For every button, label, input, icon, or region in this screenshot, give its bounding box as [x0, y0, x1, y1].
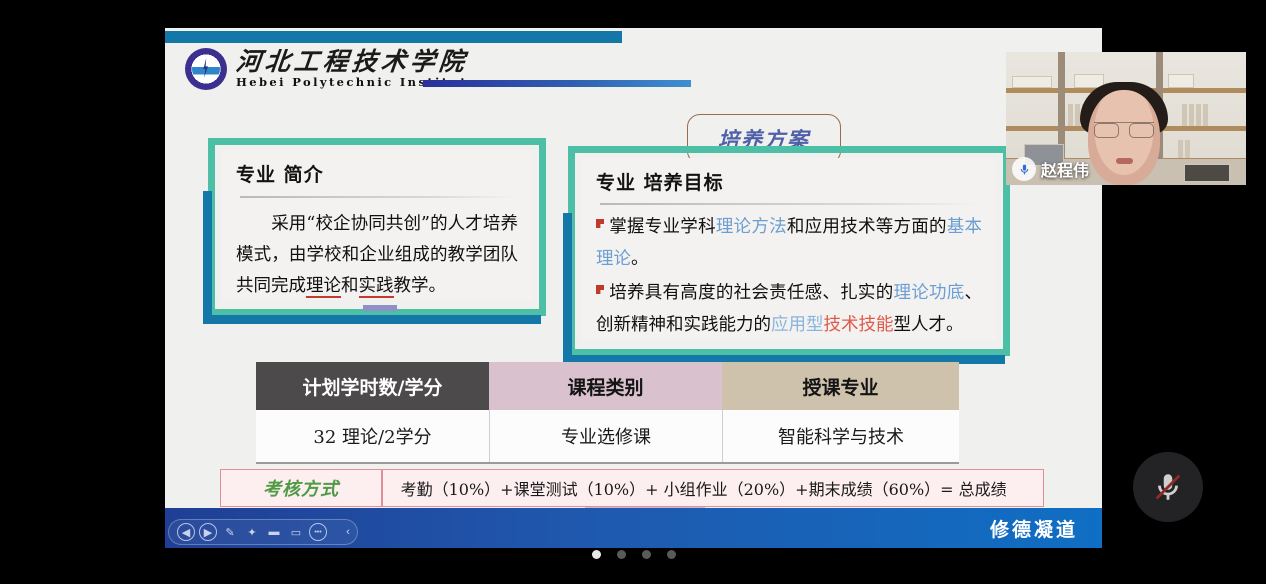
table-header-category: 课程类别 [489, 362, 722, 410]
participant-face [1088, 90, 1160, 185]
previous-slide-button[interactable]: ◀ [177, 523, 195, 541]
glasses-icon [1094, 122, 1154, 135]
objective-panel-title: 专业 培养目标 [596, 168, 982, 195]
intro-seg-4: 教学。 [394, 276, 447, 296]
school-seal-icon [185, 48, 227, 90]
participant-name-badge: 赵程伟 [1012, 157, 1089, 181]
page-dot-2[interactable] [617, 550, 626, 559]
assessment-formula: 考勤（10%）+课堂测试（10%）+ 小组作业（20%）+期末成绩（60%）= … [383, 476, 1043, 500]
more-options-button[interactable]: ••• [309, 523, 327, 541]
microphone-icon [1012, 157, 1036, 181]
objective-panel-rule [600, 203, 978, 205]
intro-seg-1: 理论 [306, 276, 341, 298]
obj1-seg-2: 和应用技术等方面的 [787, 217, 947, 237]
whiteboard-button[interactable]: ▭ [287, 523, 305, 541]
participant-mouth [1116, 158, 1133, 164]
obj2-seg-1: 理论功底 [893, 283, 964, 303]
table-cell-category: 专业选修课 [489, 410, 722, 462]
microphone-muted-icon [1151, 470, 1185, 504]
table-bottom-rule [256, 462, 959, 464]
page-dot-4[interactable] [667, 550, 676, 559]
intro-seg-2: 和 [341, 276, 359, 296]
obj2-seg-0: 培养具有高度的社会责任感、扎实的 [609, 283, 893, 303]
bullet-marker-icon [596, 285, 604, 294]
assessment-label: 考核方式 [221, 475, 381, 501]
slide-top-accent-bar [165, 31, 622, 43]
page-dot-1[interactable] [592, 550, 601, 559]
obj1-seg-0: 掌握专业学科 [609, 217, 716, 237]
course-info-table: 计划学时数/学分 课程类别 授课专业 32 理论/2学分 专业选修课 智能科学与… [256, 362, 959, 462]
table-cell-major: 智能科学与技术 [722, 410, 959, 462]
table-cell-hours: 32 理论/2学分 [256, 410, 489, 462]
share-collapse-button[interactable]: ‹ [339, 523, 357, 541]
obj1-seg-4: 。 [631, 249, 649, 269]
presentation-slide: 河北工程技术学院 Hebei Polytechnic Institute 培养方… [165, 28, 1102, 548]
screen-root: 河北工程技术学院 Hebei Polytechnic Institute 培养方… [0, 0, 1266, 584]
objective-bullet-1: 掌握专业学科理论方法和应用技术等方面的基本理论。 [596, 211, 982, 275]
intro-seg-3: 实践 [359, 276, 394, 298]
bullet-marker-icon [596, 219, 604, 228]
page-dot-3[interactable] [642, 550, 651, 559]
next-slide-button[interactable]: ▶ [199, 523, 217, 541]
intro-panel-accent [363, 305, 397, 311]
table-header-hours: 计划学时数/学分 [256, 362, 489, 410]
page-indicator-dots[interactable] [592, 550, 676, 559]
intro-panel-title: 专业 简介 [236, 160, 518, 187]
institution-name-cn: 河北工程技术学院 [235, 49, 479, 74]
presentation-toolbar[interactable]: ◀ ▶ ✎ ✦ ▬ ▭ ••• ‹ [168, 519, 358, 545]
obj2-seg-4: 技术技能 [824, 315, 894, 335]
participant-video-tile[interactable]: 赵程伟 [1006, 52, 1246, 185]
presenter-view-button[interactable]: ▬ [265, 523, 283, 541]
objective-bullet-2: 培养具有高度的社会责任感、扎实的理论功底、创新精神和实践能力的应用型技术技能型人… [596, 277, 982, 341]
assessment-row: 考核方式 考勤（10%）+课堂测试（10%）+ 小组作业（20%）+期末成绩（6… [220, 469, 1044, 507]
intro-panel-text: 采用“校企协同共创”的人才培养模式，由学校和企业组成的教学团队共同完成理论和实践… [236, 209, 518, 302]
laser-pointer-button[interactable]: ✦ [243, 523, 261, 541]
obj2-seg-5: 型人才。 [894, 315, 964, 335]
header-divider-line [423, 80, 691, 87]
objective-panel: 专业 培养目标 掌握专业学科理论方法和应用技术等方面的基本理论。 培养具有高度的… [568, 146, 1010, 356]
mute-toggle-button[interactable] [1133, 452, 1203, 522]
obj2-seg-3: 应用型 [771, 315, 824, 335]
participant-name: 赵程伟 [1041, 157, 1089, 181]
pen-annotate-button[interactable]: ✎ [221, 523, 239, 541]
table-header-major: 授课专业 [722, 362, 959, 410]
footer-motto: 修德凝道 [990, 515, 1078, 542]
obj1-seg-1: 理论方法 [716, 217, 787, 237]
intro-panel-rule [240, 196, 514, 198]
intro-panel: 专业 简介 采用“校企协同共创”的人才培养模式，由学校和企业组成的教学团队共同完… [208, 138, 546, 316]
